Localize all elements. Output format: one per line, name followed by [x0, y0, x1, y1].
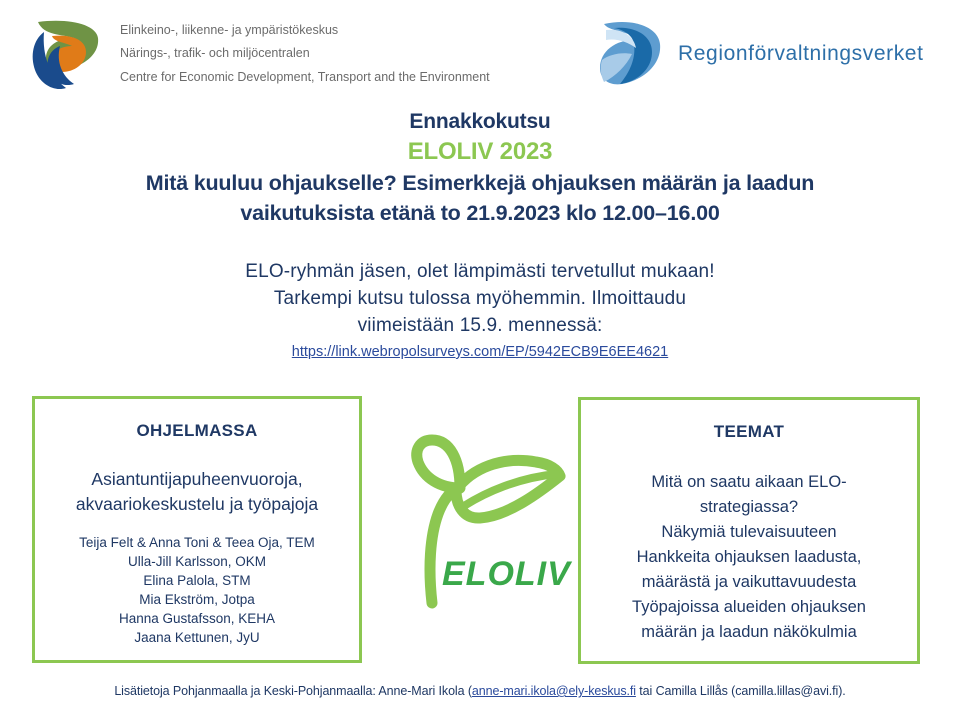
programme-panel-lead: Asiantuntijapuheenvuoroja, akvaariokesku… [35, 467, 359, 517]
programme-lead-line-1: Asiantuntijapuheenvuoroja, [43, 467, 351, 492]
list-item: Työpajoissa alueiden ohjauksen [603, 595, 895, 620]
regionforvaltningsverket-logo: Regionförvaltningsverket [592, 18, 924, 90]
programme-lead-line-2: akvaariokeskustelu ja työpajoja [43, 492, 351, 517]
intro-line-2: Tarkempi kutsu tulossa myöhemmin. Ilmoit… [0, 285, 960, 312]
title-block: Ennakkokutsu ELOLIV 2023 Mitä kuuluu ohj… [0, 108, 960, 228]
list-item: määrän ja laadun näkökulmia [603, 620, 895, 645]
email-link-ikola[interactable]: anne-mari.ikola@ely-keskus.fi [472, 684, 636, 698]
speaker-list: Teija Felt & Anna Toni & Teea Oja, TEM U… [35, 533, 359, 647]
list-item: Hankkeita ohjauksen laadusta, [603, 545, 895, 570]
list-item: Mitä on saatu aikaan ELO- [603, 470, 895, 495]
intro-block: ELO-ryhmän jäsen, olet lämpimästi tervet… [0, 258, 960, 361]
footer-contact: Lisätietoja Pohjanmaalla ja Keski-Pohjan… [0, 684, 960, 698]
avi-leaf-icon [592, 18, 666, 90]
footer-middle: tai Camilla Lillås ( [636, 684, 735, 698]
eloliv-plant-icon: ELOLIV [368, 418, 578, 613]
list-item: Jaana Kettunen, JyU [41, 628, 353, 647]
title-main: ELOLIV 2023 [0, 136, 960, 168]
registration-link[interactable]: https://link.webropolsurveys.com/EP/5942… [292, 344, 668, 360]
list-item: strategiassa? [603, 495, 895, 520]
ely-keskus-logo: Elinkeino-, liikenne- ja ympäristökeskus… [22, 12, 490, 96]
list-item: Elina Palola, STM [41, 571, 353, 590]
themes-panel-title: TEEMAT [581, 422, 917, 442]
title-subtitle-line-2: vaikutuksista etänä to 21.9.2023 klo 12.… [0, 198, 960, 228]
intro-line-1: ELO-ryhmän jäsen, olet lämpimästi tervet… [0, 258, 960, 285]
eloliv-wordmark: ELOLIV [442, 555, 573, 593]
themes-panel: TEEMAT Mitä on saatu aikaan ELO- strateg… [578, 397, 920, 664]
ely-logo-line-fi: Elinkeino-, liikenne- ja ympäristökeskus [120, 19, 490, 42]
themes-list: Mitä on saatu aikaan ELO- strategiassa? … [581, 470, 917, 645]
footer-prefix: Lisätietoja Pohjanmaalla ja Keski-Pohjan… [114, 684, 472, 698]
programme-panel: OHJELMASSA Asiantuntijapuheenvuoroja, ak… [32, 396, 362, 663]
logo-header: Elinkeino-, liikenne- ja ympäristökeskus… [0, 0, 960, 104]
intro-line-3: viimeistään 15.9. mennessä: [0, 312, 960, 339]
list-item: määrästä ja vaikuttavuudesta [603, 570, 895, 595]
avi-wordmark: Regionförvaltningsverket [678, 42, 924, 66]
list-item: Mia Ekström, Jotpa [41, 590, 353, 609]
ely-logo-line-sv: Närings-, trafik- och miljöcentralen [120, 42, 490, 65]
list-item: Teija Felt & Anna Toni & Teea Oja, TEM [41, 533, 353, 552]
ely-logo-line-en: Centre for Economic Development, Transpo… [120, 66, 490, 89]
list-item: Ulla-Jill Karlsson, OKM [41, 552, 353, 571]
ely-leaf-icon [22, 12, 106, 96]
list-item: Näkymiä tulevaisuuteen [603, 520, 895, 545]
list-item: Hanna Gustafsson, KEHA [41, 609, 353, 628]
programme-panel-title: OHJELMASSA [35, 421, 359, 441]
title-pre: Ennakkokutsu [0, 108, 960, 136]
email-link-lillas[interactable]: camilla.lillas@avi.fi [735, 684, 838, 698]
title-subtitle-line-1: Mitä kuuluu ohjaukselle? Esimerkkejä ohj… [0, 168, 960, 198]
ely-logo-text: Elinkeino-, liikenne- ja ympäristökeskus… [120, 19, 490, 88]
footer-suffix: ). [838, 684, 845, 698]
